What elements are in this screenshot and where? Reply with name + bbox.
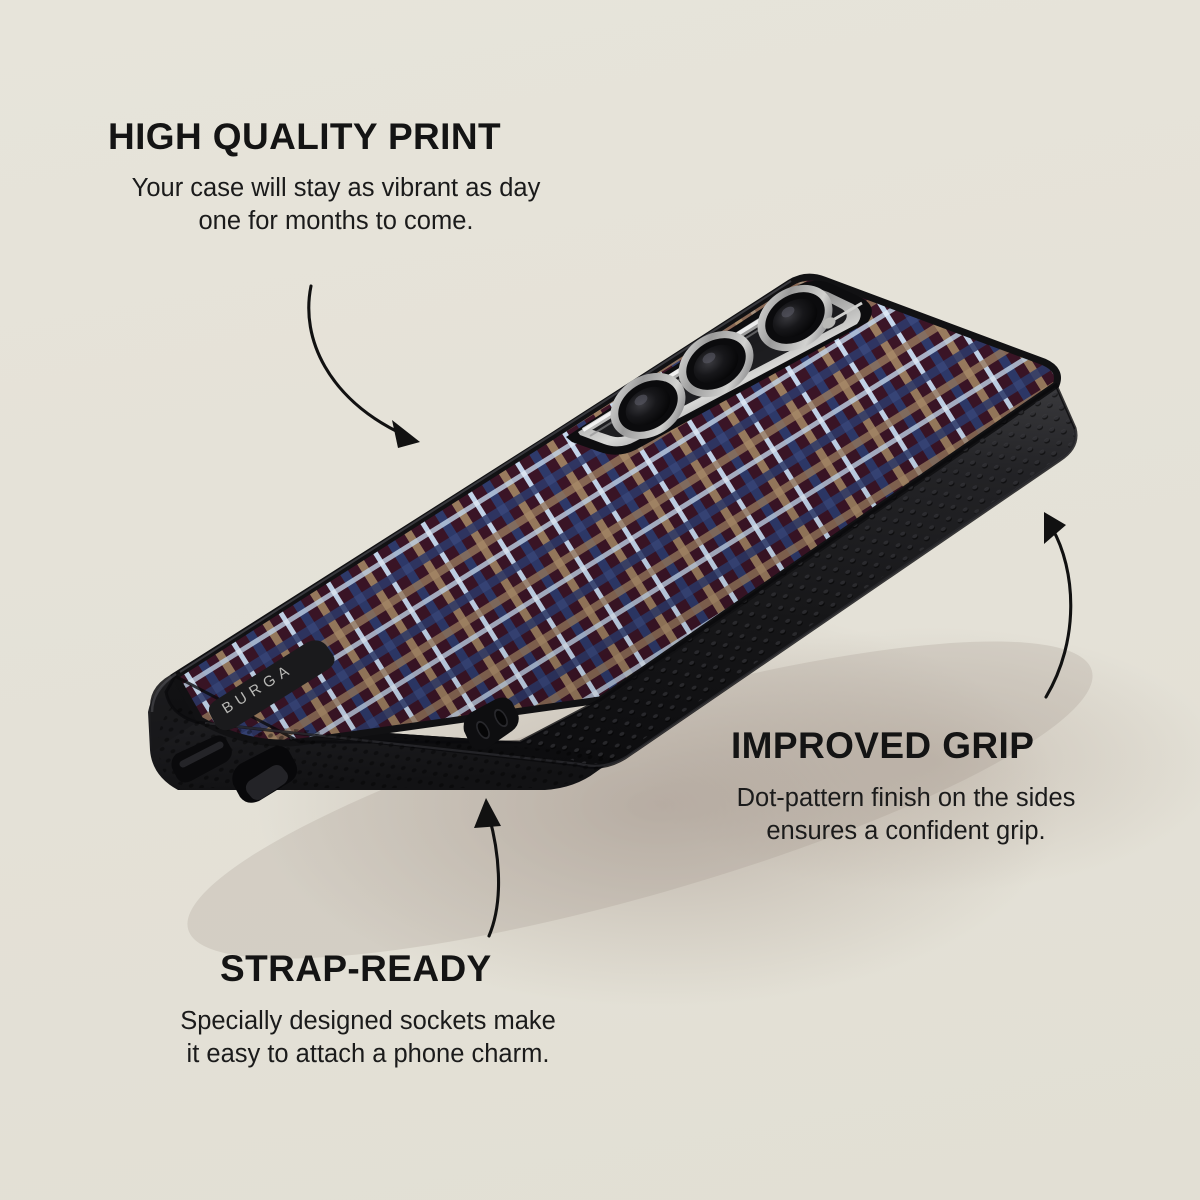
feature-title: HIGH QUALITY PRINT — [108, 118, 586, 155]
feature-description-line: Your case will stay as vibrant as day — [86, 172, 586, 205]
feature-strap-ready: STRAP-READY Specially designed sockets m… — [220, 950, 607, 1072]
feature-title: IMPROVED GRIP — [731, 727, 1122, 764]
arrow-high-quality-print — [309, 286, 420, 448]
feature-high-quality-print: HIGH QUALITY PRINT Your case will stay a… — [108, 118, 586, 239]
feature-description-line: one for months to come. — [86, 205, 586, 238]
feature-description-line: Specially designed sockets make — [129, 1005, 607, 1038]
product-feature-scene: BURGA — [0, 0, 1200, 1200]
feature-improved-grip: IMPROVED GRIP Dot-pattern finish on the … — [731, 727, 1122, 849]
feature-description: Dot-pattern finish on the sides ensures … — [690, 782, 1122, 849]
feature-description-line: it easy to attach a phone charm. — [129, 1038, 607, 1071]
feature-description-line: Dot-pattern finish on the sides — [690, 782, 1122, 815]
feature-title: STRAP-READY — [220, 950, 607, 987]
feature-description: Specially designed sockets make it easy … — [129, 1005, 607, 1072]
feature-description: Your case will stay as vibrant as day on… — [86, 172, 586, 239]
feature-description-line: ensures a confident grip. — [690, 815, 1122, 848]
